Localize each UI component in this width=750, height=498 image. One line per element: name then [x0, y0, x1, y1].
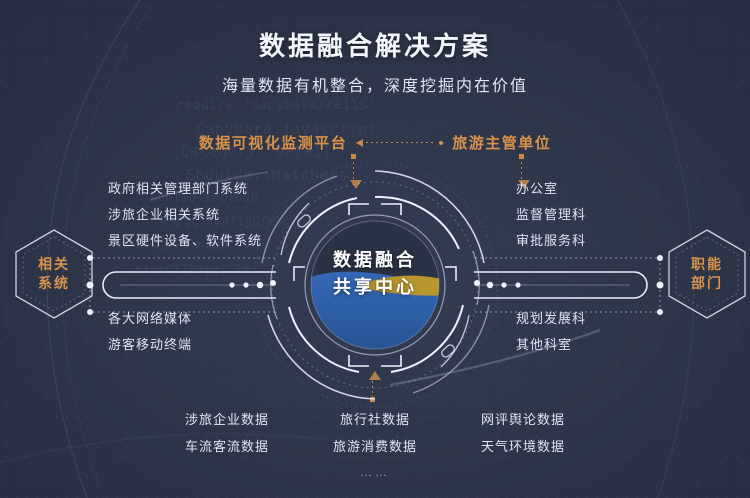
list-item[interactable]: 监督管理科: [516, 202, 586, 228]
list-item[interactable]: 景区硬件设备、软件系统: [108, 228, 262, 254]
hexagon-functional-departments[interactable]: 职能 部门: [665, 227, 749, 321]
list-item[interactable]: 涉旅企业相关系统: [108, 202, 262, 228]
data-cell[interactable]: 天气环境数据: [468, 433, 578, 460]
top-flow-row: 数据可视化监测平台 旅游主管单位: [0, 132, 750, 153]
hexagon-right-line1: 职能: [691, 255, 723, 274]
column-right-bottom: 规划发展科 其他科室: [516, 306, 586, 358]
column-left-top: 政府相关管理部门系统 涉旅企业相关系统 景区硬件设备、软件系统: [108, 176, 262, 254]
hexagon-right-text: 职能 部门: [665, 227, 749, 321]
column-right-top: 办公室 监督管理科 审批服务科: [516, 176, 586, 254]
list-item[interactable]: 各大网络媒体: [108, 306, 192, 332]
data-row: 车流客流数据 旅游消费数据 天气环境数据: [172, 433, 578, 460]
background-code-line: require 'capybara/rails': [176, 98, 376, 113]
data-cell[interactable]: 车流客流数据: [172, 433, 282, 460]
list-item[interactable]: 其他科室: [516, 332, 586, 358]
list-item[interactable]: 游客移动终端: [108, 332, 192, 358]
list-item[interactable]: 政府相关管理部门系统: [108, 176, 262, 202]
list-item[interactable]: 审批服务科: [516, 228, 586, 254]
data-row: 涉旅企业数据 旅行社数据 网评舆论数据: [172, 406, 578, 433]
hexagon-left-line2: 系统: [38, 274, 70, 293]
page-title: 数据融合解决方案: [0, 26, 750, 63]
data-ellipsis: ……: [360, 465, 390, 479]
data-cell[interactable]: 旅行社数据: [320, 406, 430, 433]
list-item[interactable]: 规划发展科: [516, 306, 586, 332]
data-cell[interactable]: 涉旅企业数据: [172, 406, 282, 433]
column-left-bottom: 各大网络媒体 游客移动终端: [108, 306, 192, 358]
hexagon-left-line1: 相关: [38, 255, 70, 274]
hexagon-right-line2: 部门: [691, 274, 723, 293]
infographic-canvas: require 'capybara/rails' Capybara.javasc…: [0, 0, 750, 498]
authority-label[interactable]: 旅游主管单位: [452, 132, 551, 153]
page-subtitle: 海量数据有机整合，深度挖掘内在价值: [0, 72, 750, 96]
bottom-data-grid: 涉旅企业数据 旅行社数据 网评舆论数据 车流客流数据 旅游消费数据 天气环境数据…: [0, 406, 750, 479]
dotted-arrow-left-icon: [356, 139, 443, 147]
list-item[interactable]: 办公室: [516, 176, 586, 202]
data-cell[interactable]: 旅游消费数据: [320, 433, 430, 460]
platform-label[interactable]: 数据可视化监测平台: [199, 132, 348, 153]
data-cell[interactable]: 网评舆论数据: [468, 406, 578, 433]
data-fusion-center[interactable]: 数据融合 共享中心: [245, 155, 505, 415]
